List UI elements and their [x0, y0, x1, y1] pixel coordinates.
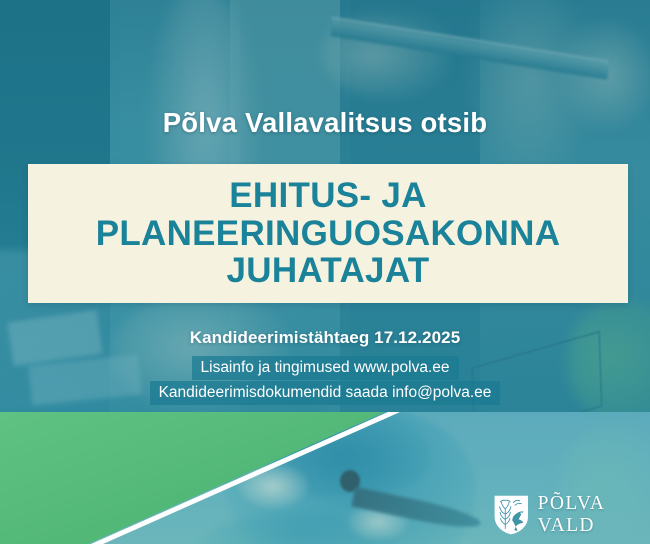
info-line-website[interactable]: Lisainfo ja tingimused www.polva.ee — [192, 356, 459, 380]
application-deadline: Kandideerimistähtaeg 17.12.2025 — [0, 328, 650, 348]
headline-line-1: EHITUS- JA — [229, 177, 426, 214]
headline-text: EHITUS- JA PLANEERINGUOSAKONNA JUHATAJAT — [28, 164, 628, 303]
headline-line-2: PLANEERINGUOSAKONNA — [96, 215, 561, 252]
info-line-email[interactable]: Kandideerimisdokumendid saada info@polva… — [150, 381, 501, 405]
headline-box: EHITUS- JA PLANEERINGUOSAKONNA JUHATAJAT — [28, 164, 628, 303]
headline-line-3: JUHATAJAT — [227, 252, 430, 289]
job-advert-poster: Põlva Vallavalitsus otsib EHITUS- JA PLA… — [0, 0, 650, 544]
contact-info-block: Lisainfo ja tingimused www.polva.ee Kand… — [0, 356, 650, 405]
logo-text: PÕLVA VALD — [538, 493, 650, 537]
page-title: Põlva Vallavalitsus otsib — [0, 107, 650, 139]
polva-vald-logo[interactable]: PÕLVA VALD — [494, 492, 650, 538]
coat-of-arms-shield-icon — [494, 492, 529, 538]
